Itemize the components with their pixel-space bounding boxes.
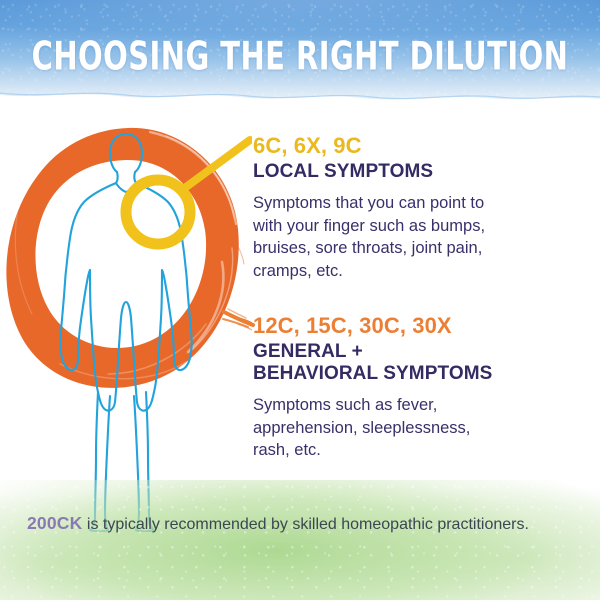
footer-banner: 200CK is typically recommended by skille… [0,480,600,600]
dose-local: 6C, 6X, 9C [253,133,589,158]
orange-brush-dash-icon [222,308,256,334]
kicker-general-line-2: BEHAVIORAL SYMPTOMS [253,363,589,385]
page-title: CHOOSING THE RIGHT DILUTION [24,36,576,79]
description-local-line-1: Symptoms that you can point to [253,192,589,215]
header-banner: CHOOSING THE RIGHT DILUTION [0,0,600,112]
description-local-line-4: cramps, etc. [253,260,589,283]
local-symptoms-block: 6C, 6X, 9C LOCAL SYMPTOMS Symptoms that … [253,133,589,282]
description-general-line-1: Symptoms such as fever, [253,394,589,417]
kicker-local: LOCAL SYMPTOMS [253,161,589,183]
infographic-poster: CHOOSING THE RIGHT DILUTION [0,0,600,600]
description-local-line-3: bruises, sore throats, joint pain, [253,237,589,260]
description-general-line-2: apprehension, sleeplessness, [253,417,589,440]
footer-note: 200CK is typically recommended by skille… [27,513,579,535]
kicker-general-line-1: GENERAL + [253,341,589,363]
illustration-svg [0,112,252,532]
description-general-line-3: rash, etc. [253,439,589,462]
dilution-text-column: 6C, 6X, 9C LOCAL SYMPTOMS Symptoms that … [253,133,589,462]
footer-highlight: 200CK [27,513,82,533]
description-general: Symptoms such as fever, apprehension, sl… [253,394,589,462]
general-symptoms-block: 12C, 15C, 30C, 30X GENERAL + BEHAVIORAL … [253,313,589,462]
description-local-line-2: with your finger such as bumps, [253,215,589,238]
description-local: Symptoms that you can point to with your… [253,192,589,282]
header-bottom-brush-edge [0,86,600,112]
footer-texture-speckle [0,480,600,600]
dose-general: 12C, 15C, 30C, 30X [253,313,589,338]
body-illustration [0,112,252,532]
footer-note-text: is typically recommended by skilled home… [82,516,528,533]
